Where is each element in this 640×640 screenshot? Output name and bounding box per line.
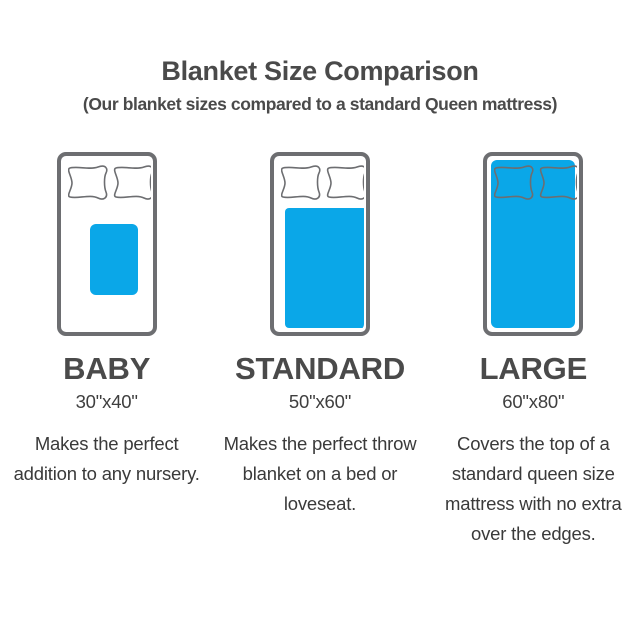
comparison-column-large: LARGE 60"x80" Covers the top of a standa… <box>427 152 640 549</box>
heading-block: Blanket Size Comparison (Our blanket siz… <box>0 55 640 118</box>
page-subtitle: (Our blanket sizes compared to a standar… <box>0 90 640 118</box>
size-description-standard: Makes the perfect throw blanket on a bed… <box>222 429 418 519</box>
pillow-icon <box>494 165 577 201</box>
page-title: Blanket Size Comparison <box>0 55 640 88</box>
mattress-surface <box>63 158 151 330</box>
bed-outline-icon <box>483 152 583 336</box>
bed-diagram-standard <box>270 152 370 336</box>
size-description-baby: Makes the perfect addition to any nurser… <box>9 429 205 489</box>
size-dimensions-large: 60"x80" <box>502 390 564 414</box>
bed-outline-icon <box>57 152 157 336</box>
mattress-surface <box>489 158 577 330</box>
size-dimensions-baby: 30"x40" <box>76 390 138 414</box>
blanket-swatch-icon <box>285 208 364 328</box>
comparison-column-standard: STANDARD 50"x60" Makes the perfect throw… <box>213 152 426 549</box>
bed-outline-icon <box>270 152 370 336</box>
bed-diagram-large <box>483 152 583 336</box>
size-name-standard: STANDARD <box>235 351 405 387</box>
size-name-large: LARGE <box>480 351 588 387</box>
mattress-surface <box>276 158 364 330</box>
comparison-column-baby: BABY 30"x40" Makes the perfect addition … <box>0 152 213 549</box>
size-dimensions-standard: 50"x60" <box>289 390 351 414</box>
comparison-columns: BABY 30"x40" Makes the perfect addition … <box>0 152 640 549</box>
size-name-baby: BABY <box>63 351 150 387</box>
bed-diagram-baby <box>57 152 157 336</box>
blanket-swatch-icon <box>90 224 138 295</box>
pillow-icon <box>281 165 364 201</box>
pillow-icon <box>68 165 151 201</box>
blanket-size-comparison-infographic: Blanket Size Comparison (Our blanket siz… <box>0 0 640 640</box>
size-description-large: Covers the top of a standard queen size … <box>435 429 631 549</box>
